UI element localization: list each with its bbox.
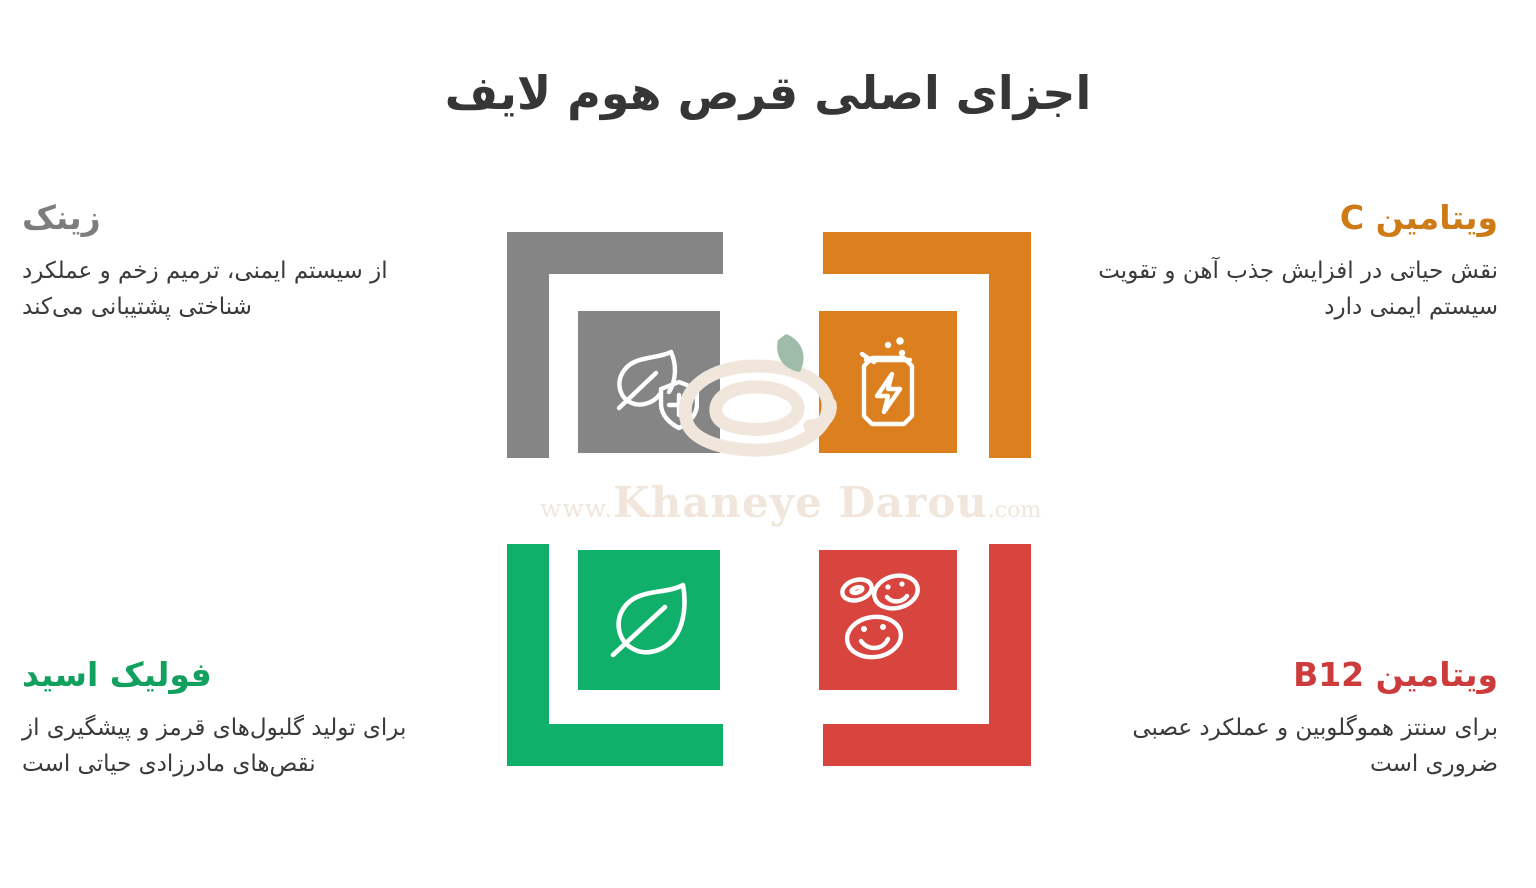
leaf-icon	[599, 575, 699, 665]
quadrant-zinc	[507, 232, 723, 458]
blood-cells-icon	[838, 571, 938, 669]
info-block-vitamin-b12: ویتامین B12 برای سنتز هموگلوبین و عملکرد…	[1068, 655, 1498, 783]
page-title: اجزای اصلی قرص هوم لایف	[0, 65, 1536, 123]
folic-acid-description: برای تولید گلبول‌های قرمز و پیشگیری از ن…	[22, 711, 452, 782]
quadrant-folic-acid	[507, 544, 723, 766]
vitamin-c-title: ویتامین C	[1068, 198, 1498, 238]
info-block-vitamin-c: ویتامین C نقش حیاتی در افزایش جذب آهن و …	[1068, 198, 1498, 326]
center-graphic	[507, 232, 1031, 766]
infographic-canvas: اجزای اصلی قرص هوم لایف زینک از سیستم ای…	[0, 0, 1536, 888]
vitamin-c-description: نقش حیاتی در افزایش جذب آهن و تقویت سیست…	[1068, 254, 1498, 325]
vitamin-b12-description: برای سنتز هموگلوبین و عملکرد عصبی ضروری …	[1068, 711, 1498, 782]
zinc-description: از سیستم ایمنی، ترمیم زخم و عملکرد شناخت…	[22, 254, 452, 325]
quadrant-vitamin-b12	[815, 544, 1031, 766]
vitamin-c-icon-tile	[819, 311, 957, 453]
folic-acid-bracket-vertical	[507, 544, 549, 766]
zinc-icon-tile	[578, 311, 720, 453]
zinc-title: زینک	[22, 198, 452, 238]
info-block-folic-acid: فولیک اسید برای تولید گلبول‌های قرمز و پ…	[22, 655, 452, 783]
folic-acid-icon-tile	[578, 550, 720, 690]
leaf-shield-icon	[599, 332, 699, 432]
zinc-bracket-vertical	[507, 232, 549, 458]
vitamin-b12-icon-tile	[819, 550, 957, 690]
info-block-zinc: زینک از سیستم ایمنی، ترمیم زخم و عملکرد …	[22, 198, 452, 326]
energy-can-bolt-icon	[842, 332, 934, 432]
vitamin-b12-bracket-vertical	[989, 544, 1031, 766]
quadrant-vitamin-c	[815, 232, 1031, 458]
folic-acid-title: فولیک اسید	[22, 655, 452, 695]
vitamin-c-bracket-vertical	[989, 232, 1031, 458]
vitamin-b12-title: ویتامین B12	[1068, 655, 1498, 695]
